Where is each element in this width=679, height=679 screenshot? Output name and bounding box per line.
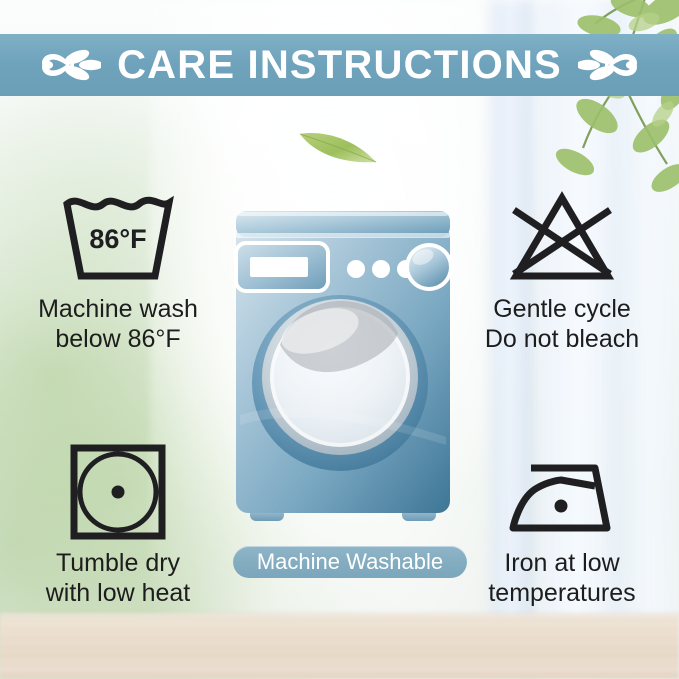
care-item-label: Gentle cycle Do not bleach [452, 294, 672, 354]
symbol-container: 86°F [8, 186, 228, 290]
symbol-container [452, 440, 672, 544]
care-item-label: Tumble dry with low heat [8, 548, 228, 608]
header-banner: CARE INSTRUCTIONS [0, 34, 679, 96]
washer-indicator-lights [347, 260, 415, 278]
badge-label: Machine Washable [257, 551, 443, 573]
washer-control-knob [405, 243, 453, 291]
fleur-de-lis-icon [39, 45, 101, 85]
care-item-label: Machine wash below 86°F [8, 294, 228, 354]
care-item-do-not-bleach: Gentle cycle Do not bleach [452, 186, 672, 354]
page-title: CARE INSTRUCTIONS [117, 45, 562, 85]
washing-machine-illustration [228, 205, 458, 535]
symbol-container [8, 440, 228, 544]
care-item-label: Iron at low temperatures [452, 548, 672, 608]
symbol-container [452, 186, 672, 290]
iron-icon [503, 446, 621, 538]
detergent-drawer [236, 243, 328, 291]
care-item-tumble-dry: Tumble dry with low heat [8, 440, 228, 608]
wash-tub-icon: 86°F [57, 190, 179, 286]
washer-door [252, 295, 428, 471]
floating-leaf-icon [296, 122, 380, 166]
tumble-dry-icon [68, 442, 168, 542]
crossed-triangle-icon [506, 190, 618, 286]
care-item-machine-wash: 86°F Machine wash below 86°F [8, 186, 228, 354]
machine-washable-badge: Machine Washable [233, 546, 467, 578]
fleur-de-lis-icon [578, 45, 640, 85]
care-item-iron: Iron at low temperatures [452, 440, 672, 608]
table-grain-texture [0, 619, 679, 679]
care-instructions-infographic: CARE INSTRUCTIONS 86°F Machine wash belo… [0, 0, 679, 679]
wash-temperature-text: 86°F [89, 224, 146, 254]
